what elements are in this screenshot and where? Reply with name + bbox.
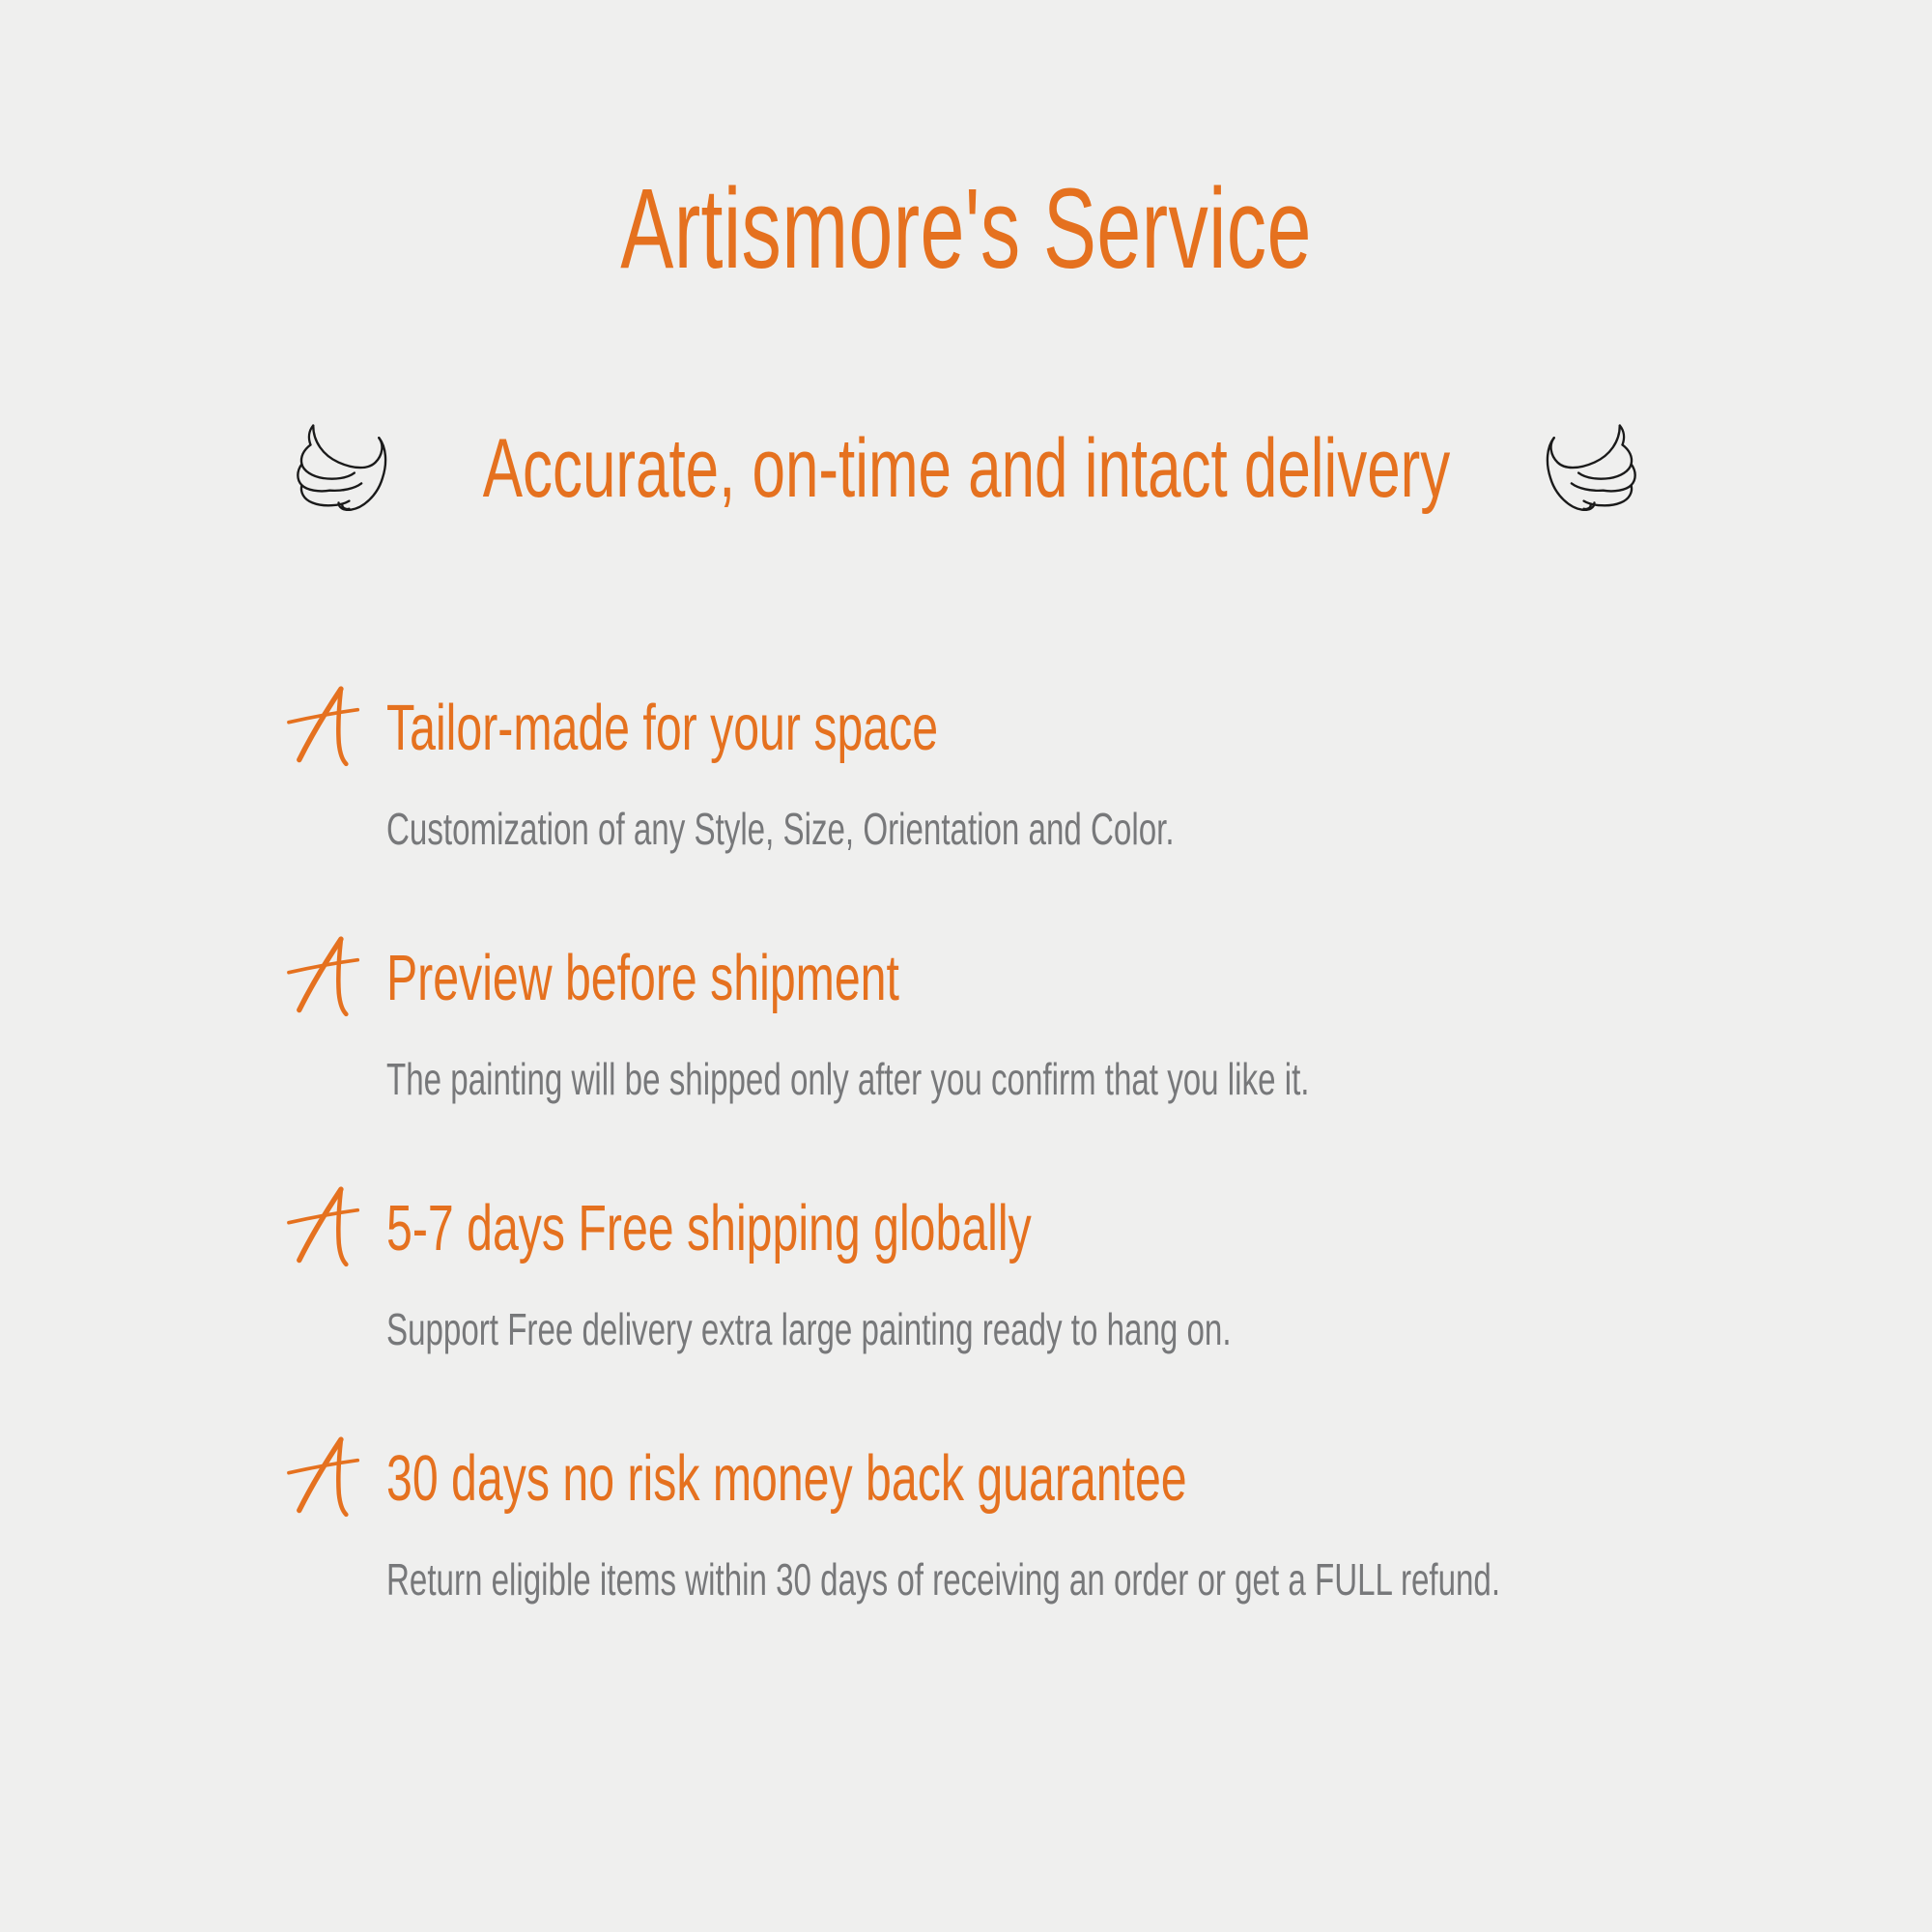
feature-description: Customization of any Style, Size, Orient… (386, 807, 1861, 851)
script-a-bullet-icon (276, 674, 381, 779)
feature-body: Preview before shipment The painting wil… (386, 946, 1861, 1101)
feature-body: Tailor-made for your space Customization… (386, 696, 1861, 851)
service-info-page: Artismore's Service Accurate, on-time an… (0, 0, 1932, 1932)
feature-item: 5-7 days Free shipping globally Support … (276, 1196, 1861, 1351)
angel-wing-left-icon (277, 412, 391, 526)
feature-item: Tailor-made for your space Customization… (276, 696, 1861, 851)
page-title: Artismore's Service (290, 172, 1642, 286)
feature-body: 30 days no risk money back guarantee Ret… (386, 1446, 1861, 1602)
script-a-bullet-icon (276, 924, 381, 1029)
angel-wing-right-icon (1542, 412, 1656, 526)
feature-body: 5-7 days Free shipping globally Support … (386, 1196, 1861, 1351)
feature-heading: Preview before shipment (386, 946, 1861, 1010)
subtitle-row: Accurate, on-time and intact delivery (0, 401, 1932, 536)
feature-item: 30 days no risk money back guarantee Ret… (276, 1446, 1861, 1602)
feature-list: Tailor-made for your space Customization… (276, 696, 1861, 1602)
script-a-bullet-icon (276, 1175, 381, 1279)
feature-heading: 5-7 days Free shipping globally (386, 1196, 1861, 1261)
script-a-bullet-icon (276, 1425, 381, 1529)
feature-heading: Tailor-made for your space (386, 696, 1861, 760)
feature-item: Preview before shipment The painting wil… (276, 946, 1861, 1101)
feature-description: The painting will be shipped only after … (386, 1057, 1861, 1101)
feature-description: Support Free delivery extra large painti… (386, 1307, 1861, 1351)
subtitle-text: Accurate, on-time and intact delivery (462, 427, 1471, 510)
feature-description: Return eligible items within 30 days of … (386, 1557, 1861, 1602)
feature-heading: 30 days no risk money back guarantee (386, 1446, 1861, 1511)
